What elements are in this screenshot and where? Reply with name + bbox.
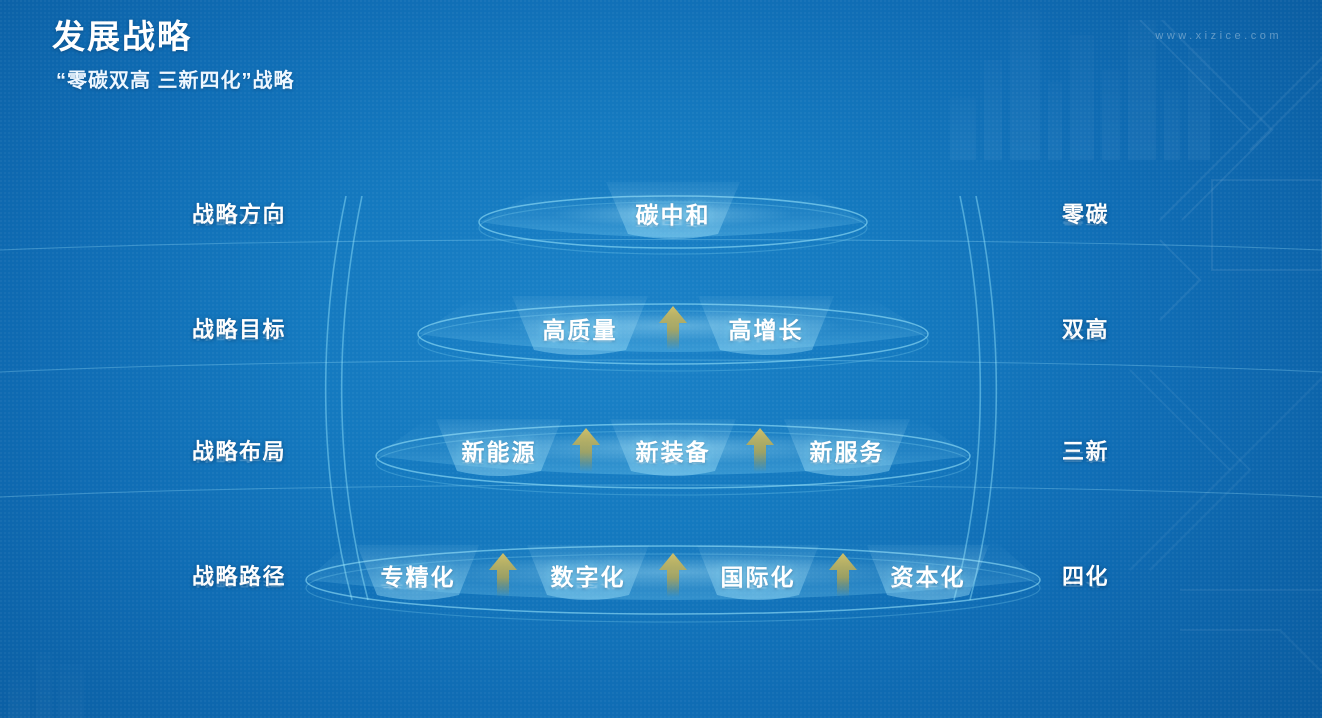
corner-geometry-bottom-right [1120, 330, 1322, 718]
pyramid-item-label: 国际化 国际化 [721, 558, 796, 592]
pyramid-item-text: 高增长 [729, 317, 804, 343]
pyramid-item-label: 高增长 高增长 [729, 311, 804, 345]
level-4-left-label: 战略路径 战略路径 [192, 559, 286, 591]
level-3-items: 新能源 新能源 新装备 [429, 419, 917, 481]
pyramid-item-label: 专精化 专精化 [381, 558, 456, 592]
pyramid-item-text: 碳中和 [636, 202, 711, 228]
pyramid-item[interactable]: 资本化 资本化 [860, 545, 996, 605]
level-2-left-label-text: 战略目标 [192, 317, 286, 342]
level-3-right-label: 三新 三新 [1062, 434, 1109, 466]
up-arrow-icon [826, 551, 860, 599]
pyramid-item[interactable]: 新能源 新能源 [429, 419, 569, 481]
corner-geometry [1100, 20, 1322, 360]
level-3-left-label-text: 战略布局 [192, 439, 286, 464]
pyramid-item-text: 新服务 [810, 439, 885, 465]
pyramid-item-label: 资本化 资本化 [891, 558, 966, 592]
pyramid-item-label: 碳中和 碳中和 [636, 196, 711, 230]
level-1-right-label-text: 零碳 [1062, 202, 1109, 227]
level-2-items: 高质量 高质量 高增长 [504, 296, 842, 360]
pyramid-item[interactable]: 数字化 数字化 [520, 545, 656, 605]
level-3-right-label-text: 三新 [1062, 439, 1109, 464]
up-arrow-icon [569, 426, 603, 474]
pyramid-item-text: 数字化 [551, 564, 626, 590]
site-watermark: www.xizice.com [1155, 30, 1282, 42]
level-4-items: 专精化 专精化 数字化 [350, 545, 996, 605]
pyramid-item-label: 数字化 数字化 [551, 558, 626, 592]
pyramid-item-label: 新能源 新能源 [462, 433, 537, 467]
level-4-left-label-text: 战略路径 [192, 564, 286, 589]
level-2-left-label: 战略目标 战略目标 [192, 312, 286, 344]
level-1-left-label-text: 战略方向 [192, 202, 286, 227]
pyramid-item[interactable]: 新服务 新服务 [777, 419, 917, 481]
level-2-right-label: 双高 双高 [1062, 312, 1109, 344]
level-1-items: 碳中和 碳中和 [598, 182, 748, 244]
background-skyline-left [0, 480, 300, 718]
up-arrow-icon [743, 426, 777, 474]
level-2-right-label-text: 双高 [1062, 317, 1109, 342]
pyramid-item-text: 资本化 [891, 564, 966, 590]
up-arrow-icon [656, 551, 690, 599]
level-1-left-label: 战略方向 战略方向 [192, 197, 286, 229]
pyramid-item-text: 国际化 [721, 564, 796, 590]
pyramid-item[interactable]: 高质量 高质量 [504, 296, 656, 360]
pyramid-item[interactable]: 高增长 高增长 [690, 296, 842, 360]
page-title: 发展战略 [52, 16, 295, 57]
level-4-right-label: 四化 四化 [1062, 559, 1109, 591]
pyramid-item[interactable]: 碳中和 碳中和 [598, 182, 748, 244]
pyramid-item[interactable]: 国际化 国际化 [690, 545, 826, 605]
pyramid-item-text: 新能源 [462, 439, 537, 465]
header: 发展战略 “零碳双高 三新四化”战略 [52, 16, 295, 93]
pyramid-item[interactable]: 专精化 专精化 [350, 545, 486, 605]
pyramid-item-label: 新装备 新装备 [636, 433, 711, 467]
pyramid-item-text: 高质量 [543, 317, 618, 343]
pyramid-item-text: 新装备 [636, 439, 711, 465]
level-3-left-label: 战略布局 战略布局 [192, 434, 286, 466]
slide-canvas: 发展战略 “零碳双高 三新四化”战略 www.xizice.com [0, 0, 1322, 718]
level-1-right-label: 零碳 零碳 [1062, 197, 1109, 229]
up-arrow-icon [486, 551, 520, 599]
pyramid-item-label: 高质量 高质量 [543, 311, 618, 345]
pyramid-item-text: 专精化 [381, 564, 456, 590]
level-4-right-label-text: 四化 [1062, 564, 1109, 589]
page-subtitle: “零碳双高 三新四化”战略 [56, 64, 295, 93]
background-skyline [940, 0, 1320, 160]
up-arrow-icon [656, 304, 690, 352]
pyramid-item[interactable]: 新装备 新装备 [603, 419, 743, 481]
pyramid-item-label: 新服务 新服务 [810, 433, 885, 467]
